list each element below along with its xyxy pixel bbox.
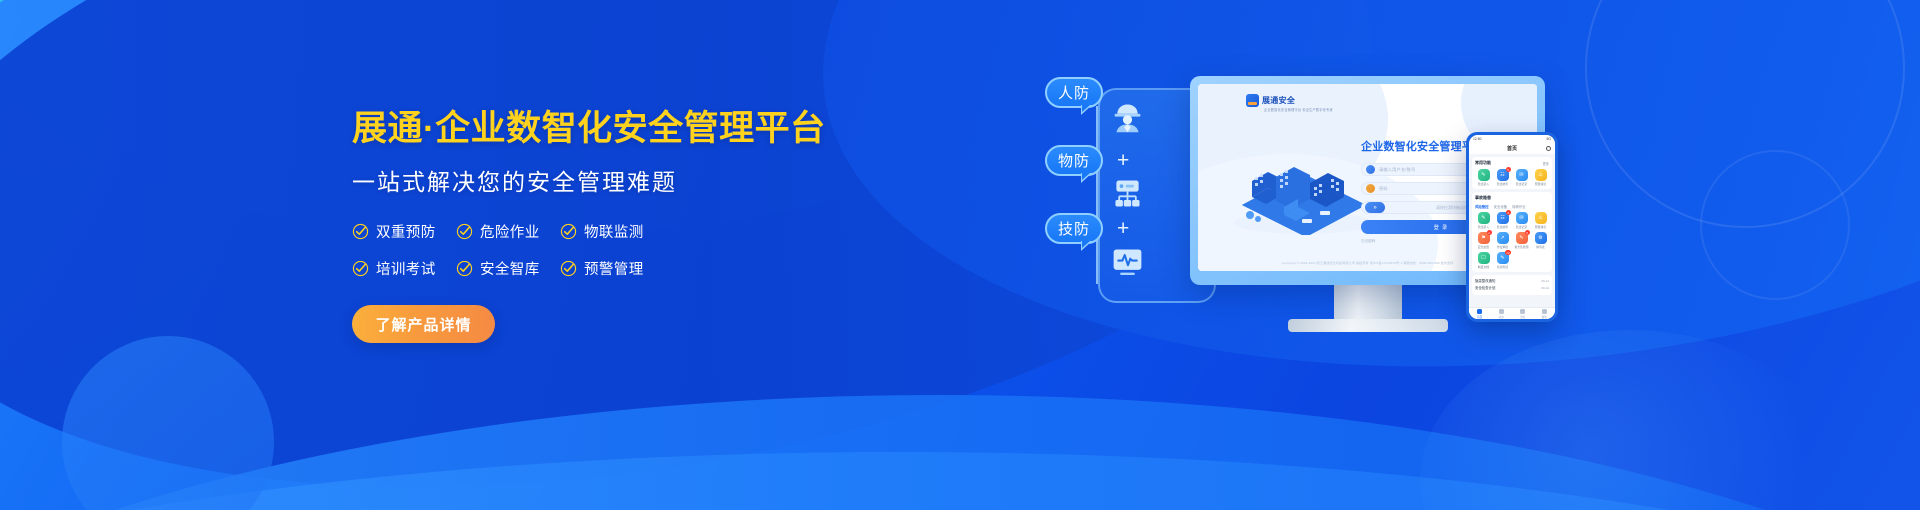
hazard-record-icon: ✉: [1516, 212, 1528, 224]
phone-nav-title: 首页: [1507, 145, 1517, 152]
section-title: 事故隐患: [1475, 195, 1491, 201]
app-label: 隐患记录: [1516, 225, 1527, 229]
phone-status-bar: 12:50 5G: [1469, 135, 1555, 143]
learn-more-button[interactable]: 了解产品详情: [352, 305, 495, 343]
app-label: 培训考试: [1497, 265, 1508, 269]
app-item[interactable]: ☷ 3 隐患协查: [1494, 212, 1511, 229]
phone-notice-list: 隐患整改通知 09-12 安全检查计划 09-10: [1472, 275, 1552, 295]
tabbar-label: 首页: [1477, 315, 1482, 319]
check-circle-icon: [352, 223, 369, 240]
defense-connector-line: [1096, 106, 1098, 284]
status-signal: 5G: [1546, 137, 1551, 141]
app-label: 隐患录入: [1478, 225, 1489, 229]
list-item[interactable]: 安全检查计划 09-10: [1475, 285, 1549, 290]
tabbar-item-message[interactable]: 消息: [1520, 309, 1525, 319]
app-label: 排查表: [1536, 245, 1544, 249]
list-item-meta: 09-10: [1541, 286, 1549, 290]
app-item[interactable]: ⚙ 排查表: [1532, 232, 1549, 249]
app-label: 应急处置: [1478, 245, 1489, 249]
alert-message-icon: ⚠: [1535, 169, 1547, 181]
phone-tab-bar: 首页 待办 消息 我的: [1469, 307, 1555, 319]
tab-item[interactable]: 安全设备: [1494, 204, 1508, 209]
major-hazard-icon: ✎ 8: [1516, 232, 1528, 244]
badge-count: 8: [1525, 230, 1530, 235]
forgot-password-link[interactable]: 忘记密码: [1361, 239, 1375, 244]
person-icon: [1542, 309, 1547, 314]
tabbar-item-profile[interactable]: 我的: [1542, 309, 1547, 319]
brand-logo: 展通安全 企业数智化安全管理平台 安全生产数字化专家: [1246, 94, 1295, 107]
feature-item: 双重预防: [352, 221, 456, 242]
document-icon: ☐: [1478, 252, 1490, 264]
emergency-icon: ⚑ 2: [1478, 232, 1490, 244]
badge-count: 3: [1506, 210, 1511, 215]
list-item-meta: 09-12: [1541, 279, 1549, 283]
section-title: 常用功能: [1475, 160, 1491, 166]
list-item[interactable]: 隐患整改通知 09-12: [1475, 278, 1549, 283]
todo-icon: [1499, 309, 1504, 314]
plus-sign-1: +: [1117, 150, 1129, 171]
feature-label: 预警管理: [584, 258, 644, 279]
feature-label: 物联监测: [584, 221, 644, 242]
promo-banner: 展通·企业数智化安全管理平台 一站式解决您的安全管理难题 双重预防 危险作业: [0, 0, 1920, 510]
check-circle-icon: [560, 223, 577, 240]
badge-count: 5: [1506, 167, 1511, 172]
list-item-title: 安全检查计划: [1475, 285, 1495, 290]
message-icon: [1520, 309, 1525, 314]
work-approval-icon: ↗: [1497, 232, 1509, 244]
feature-item: 培训考试: [352, 258, 456, 279]
section-more-link[interactable]: 更多: [1543, 161, 1549, 166]
list-item-title: 隐患整改通知: [1475, 278, 1495, 283]
mobile-phone-mockup: 12:50 5G 首页 常用功能 更多 ✎ 隐患录入: [1466, 132, 1558, 322]
app-item[interactable]: ✎ 隐患录入: [1475, 212, 1492, 229]
app-item[interactable]: ↗ 作业审批: [1494, 232, 1511, 249]
hazard-record-icon: ✉: [1516, 169, 1528, 181]
tab-item[interactable]: 特种作业: [1512, 204, 1526, 209]
page-subtitle: 一站式解决您的安全管理难题: [352, 163, 822, 197]
user-icon: [1366, 165, 1375, 174]
app-grid: ✎ 隐患录入 ☷ 3 隐患协查 ✉ 隐患记录: [1475, 212, 1549, 269]
phone-section-common: 常用功能 更多 ✎ 隐患录入 ☷ 5 隐患协查: [1472, 157, 1552, 189]
tabbar-item-home[interactable]: 首页: [1477, 309, 1482, 319]
feature-label: 双重预防: [376, 221, 436, 242]
feature-list: 双重预防 危险作业 物联监测: [352, 221, 822, 279]
app-label: 隐患录入: [1478, 182, 1489, 186]
page-title: 展通·企业数智化安全管理平台: [352, 108, 822, 149]
defense-badge-wufang[interactable]: 物防: [1045, 145, 1103, 176]
badge-count: 2: [1487, 230, 1492, 235]
defense-badge-renfang[interactable]: 人防: [1045, 77, 1103, 108]
check-circle-icon: [560, 260, 577, 277]
app-label: 预警消息: [1535, 225, 1546, 229]
phone-screen: 12:50 5G 首页 常用功能 更多 ✎ 隐患录入: [1469, 135, 1555, 319]
defense-badge-label: 物防: [1058, 150, 1090, 171]
section-header: 常用功能 更多: [1475, 160, 1549, 166]
app-item[interactable]: ☷ 5 隐患协查: [1494, 169, 1511, 186]
password-placeholder: 密码: [1379, 186, 1388, 192]
app-grid: ✎ 隐患录入 ☷ 5 隐患协查 ✉ 隐患记录: [1475, 169, 1549, 186]
monitor-stand-neck: [1334, 285, 1402, 319]
logo-text: 展通安全: [1262, 95, 1295, 106]
checklist-icon: ⚙: [1535, 232, 1547, 244]
app-label: 预警消息: [1535, 182, 1546, 186]
app-item[interactable]: ⚑ 2 应急处置: [1475, 232, 1492, 249]
app-label: 隐患协查: [1497, 182, 1508, 186]
plus-sign-2: +: [1117, 218, 1129, 239]
tabbar-item-todo[interactable]: 待办: [1499, 309, 1504, 319]
check-circle-icon: [456, 223, 473, 240]
feature-item: 危险作业: [456, 221, 560, 242]
feature-item: 物联监测: [560, 221, 664, 242]
defense-badge-jifang[interactable]: 技防: [1045, 213, 1103, 244]
monitor-stand-base: [1288, 319, 1448, 332]
feature-label: 危险作业: [480, 221, 540, 242]
hero-copy: 展通·企业数智化安全管理平台 一站式解决您的安全管理难题 双重预防 危险作业: [352, 108, 822, 343]
phone-section-hazard: 事故隐患 风险管控 安全设备 特种作业 ✎ 隐患录入 ☷: [1472, 192, 1552, 272]
app-label: 隐患协查: [1497, 225, 1508, 229]
monitor-pulse-icon: [1109, 243, 1146, 280]
phone-tabs: 风险管控 安全设备 特种作业: [1475, 204, 1549, 209]
tabbar-label: 消息: [1520, 315, 1525, 319]
feature-label: 安全智库: [480, 258, 540, 279]
feature-item: 预警管理: [560, 258, 664, 279]
app-item[interactable]: ✎ 8 重大危险源: [1513, 232, 1530, 249]
check-circle-icon: [456, 260, 473, 277]
app-item[interactable]: ⚠ 预警消息: [1532, 169, 1549, 186]
app-item[interactable]: ✎ 12 培训考试: [1494, 252, 1511, 269]
app-item[interactable]: ✉ 隐患记录: [1513, 169, 1530, 186]
defense-badge-label: 技防: [1058, 218, 1090, 239]
app-label: 作业审批: [1497, 245, 1508, 249]
logo-mark-icon: [1246, 94, 1259, 107]
product-visual: 人防 物防 技防 + +: [1010, 0, 1920, 510]
check-circle-icon: [352, 260, 369, 277]
badge-count: 12: [1505, 250, 1510, 255]
logo-subtitle: 企业数智化安全管理平台 安全生产数字化专家: [1264, 107, 1333, 112]
status-time: 12:50: [1473, 137, 1482, 141]
network-device-icon: [1109, 175, 1146, 212]
background-circle-left: [62, 336, 274, 510]
training-exam-icon: ✎ 12: [1497, 252, 1509, 264]
app-label: 制度文档: [1478, 265, 1489, 269]
hazard-entry-icon: ✎: [1478, 212, 1490, 224]
worker-helmet-icon: [1109, 98, 1146, 135]
double-chevron-right-icon[interactable]: »: [1365, 202, 1385, 213]
app-label: 重大危险源: [1515, 245, 1529, 249]
username-placeholder: 请输入用户名/账号: [1379, 167, 1415, 173]
app-item[interactable]: ✎ 隐患录入: [1475, 169, 1492, 186]
feature-item: 安全智库: [456, 258, 560, 279]
app-item[interactable]: ✉ 隐患记录: [1513, 212, 1530, 229]
home-icon: [1477, 309, 1482, 314]
tab-item[interactable]: 风险管控: [1475, 204, 1489, 209]
feature-label: 培训考试: [376, 258, 436, 279]
app-item[interactable]: ⚠ 预警消息: [1532, 212, 1549, 229]
defense-badge-label: 人防: [1058, 82, 1090, 103]
phone-nav-bar: 首页: [1469, 143, 1555, 154]
hazard-assist-icon: ☷ 5: [1497, 169, 1509, 181]
app-label: 隐患记录: [1516, 182, 1527, 186]
lock-icon: [1366, 184, 1375, 193]
tabbar-label: 我的: [1542, 315, 1547, 319]
gear-icon[interactable]: [1546, 146, 1551, 151]
city-illustration: [1224, 143, 1384, 235]
hazard-assist-icon: ☷ 3: [1497, 212, 1509, 224]
hazard-entry-icon: ✎: [1478, 169, 1490, 181]
alert-message-icon: ⚠: [1535, 212, 1547, 224]
section-header: 事故隐患: [1475, 195, 1549, 201]
app-item[interactable]: ☐ 制度文档: [1475, 252, 1492, 269]
tabbar-label: 待办: [1499, 315, 1504, 319]
